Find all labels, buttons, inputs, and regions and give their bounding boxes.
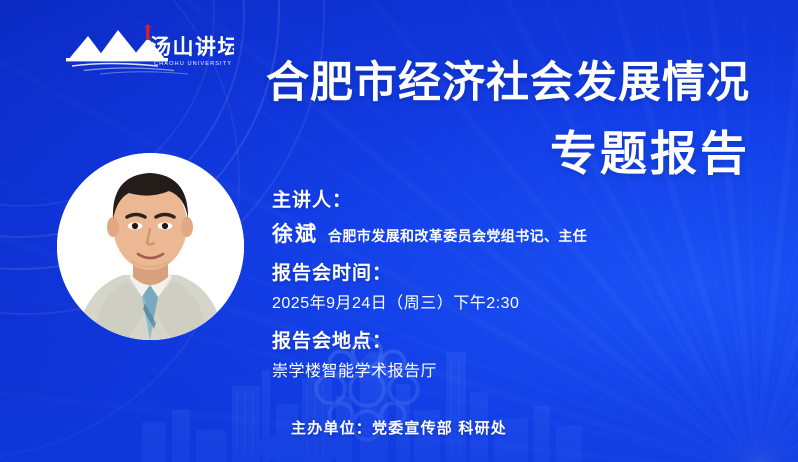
background-ray xyxy=(759,323,798,462)
time-value: 2025年9月24日（周三）下午2:30 xyxy=(272,292,587,316)
speaker-title: 合肥市发展和改革委员会党组书记、主任 xyxy=(328,226,587,246)
time-row: 报告会时间： 2025年9月24日（周三）下午2:30 xyxy=(272,261,587,316)
background-ray xyxy=(758,0,798,462)
background-ray xyxy=(754,0,798,462)
background-ray xyxy=(758,0,798,462)
background-ray xyxy=(756,0,798,462)
background-ray xyxy=(755,0,798,462)
background-ray xyxy=(758,0,798,462)
background-ray xyxy=(757,0,798,462)
tangshan-forum-logo: 汤山讲坛 CHAOHU UNIVERSITY xyxy=(62,24,234,78)
logo-name-cn: 汤山讲坛 xyxy=(150,35,234,59)
poster-headline: 合肥市经济社会发展情况 专题报告 xyxy=(266,57,750,183)
background-ray xyxy=(758,55,798,462)
background-ray xyxy=(759,0,798,462)
background-ray xyxy=(758,0,798,462)
background-ray xyxy=(758,0,798,462)
background-ray xyxy=(757,0,798,462)
organizer-footer: 主办单位：党委宣传部 科研处 xyxy=(0,417,798,438)
place-row: 报告会地点： 崇学楼智能学术报告厅 xyxy=(272,329,587,384)
background-ray xyxy=(753,0,798,462)
headline-line-1: 合肥市经济社会发展情况 xyxy=(266,57,750,109)
event-poster: 汤山讲坛 CHAOHU UNIVERSITY xyxy=(0,0,798,462)
background-ray xyxy=(758,0,798,462)
place-value: 崇学楼智能学术报告厅 xyxy=(272,360,587,384)
logo-name-en: CHAOHU UNIVERSITY xyxy=(154,61,232,67)
background-ray xyxy=(756,0,798,462)
place-label: 报告会地点： xyxy=(272,329,587,355)
speaker-label: 主讲人： xyxy=(272,188,587,214)
background-ray xyxy=(757,0,798,462)
speaker-row: 主讲人： 徐斌 合肥市发展和改革委员会党组书记、主任 xyxy=(272,188,587,248)
background-ray xyxy=(759,147,798,462)
background-ray xyxy=(753,0,798,462)
time-label: 报告会时间： xyxy=(272,261,587,287)
background-ray xyxy=(758,0,798,462)
event-details: 主讲人： 徐斌 合肥市发展和改革委员会党组书记、主任 报告会时间： 2025年9… xyxy=(272,188,587,397)
speaker-portrait xyxy=(57,153,244,340)
speaker-name: 徐斌 xyxy=(272,218,318,248)
headline-line-2: 专题报告 xyxy=(266,125,750,183)
background-ray xyxy=(759,0,798,462)
background-ray xyxy=(756,0,798,462)
